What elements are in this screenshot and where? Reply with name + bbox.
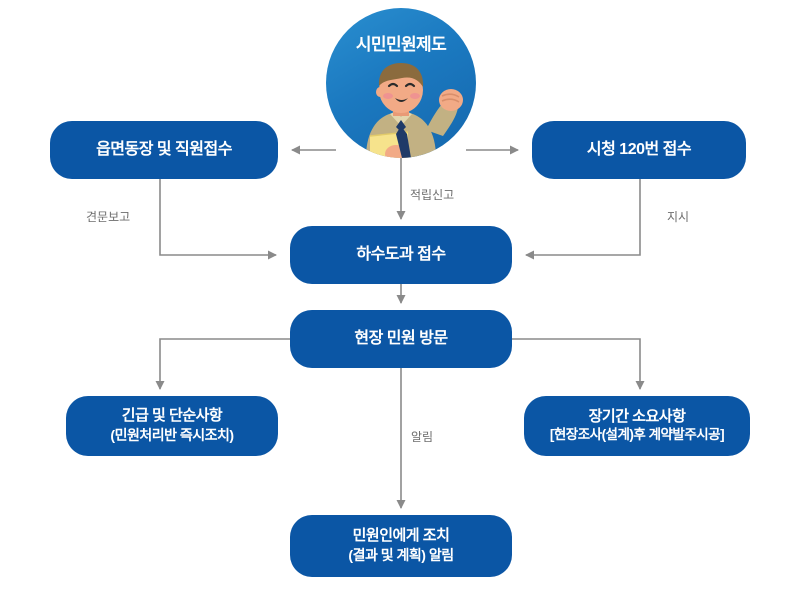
edge-label-deposit-report: 적립신고	[410, 186, 454, 203]
node-label: 읍면동장 및 직원접수	[96, 140, 232, 160]
edge-label-field-report: 견문보고	[86, 208, 130, 225]
citizen-complaint-system-badge: 시민민원제도	[326, 8, 476, 158]
node-label-line1: 민원인에게 조치	[353, 527, 450, 546]
node-urgent-simple-matters[interactable]: 긴급 및 단순사항 (민원처리반 즉시조치)	[66, 396, 278, 456]
node-label-line2: [현장조사(설계)후 계약발주시공]	[550, 427, 724, 444]
node-onsite-complaint-visit[interactable]: 현장 민원 방문	[290, 310, 512, 368]
badge-title: 시민민원제도	[326, 30, 476, 55]
node-notify-complainant[interactable]: 민원인에게 조치 (결과 및 계획) 알림	[290, 515, 512, 577]
node-label-line2: (결과 및 계획) 알림	[348, 547, 453, 565]
node-eupmyeon-reception[interactable]: 읍면동장 및 직원접수	[50, 121, 278, 179]
edge-city120-to-sewer	[526, 179, 640, 255]
node-long-term-matters[interactable]: 장기간 소요사항 [현장조사(설계)후 계약발주시공]	[524, 396, 750, 456]
edge-visit-to-longterm	[512, 339, 640, 389]
node-label: 현장 민원 방문	[354, 329, 447, 349]
edge-label-notification: 알림	[411, 428, 433, 445]
node-label: 하수도과 접수	[356, 245, 445, 265]
node-label-line2: (민원처리반 즉시조치)	[110, 427, 233, 445]
node-city-hall-120-reception[interactable]: 시청 120번 접수	[532, 121, 746, 179]
edge-visit-to-urgent	[160, 339, 290, 389]
edge-label-instruction: 지시	[667, 208, 689, 225]
node-label-line1: 긴급 및 단순사항	[122, 407, 222, 426]
flowchart-diagram: 시민민원제도	[0, 0, 800, 600]
edge-eupmyeon-to-sewer	[160, 179, 276, 255]
node-label-line1: 장기간 소요사항	[589, 408, 686, 427]
node-label: 시청 120번 접수	[587, 140, 691, 160]
node-sewerage-division-reception[interactable]: 하수도과 접수	[290, 226, 512, 284]
